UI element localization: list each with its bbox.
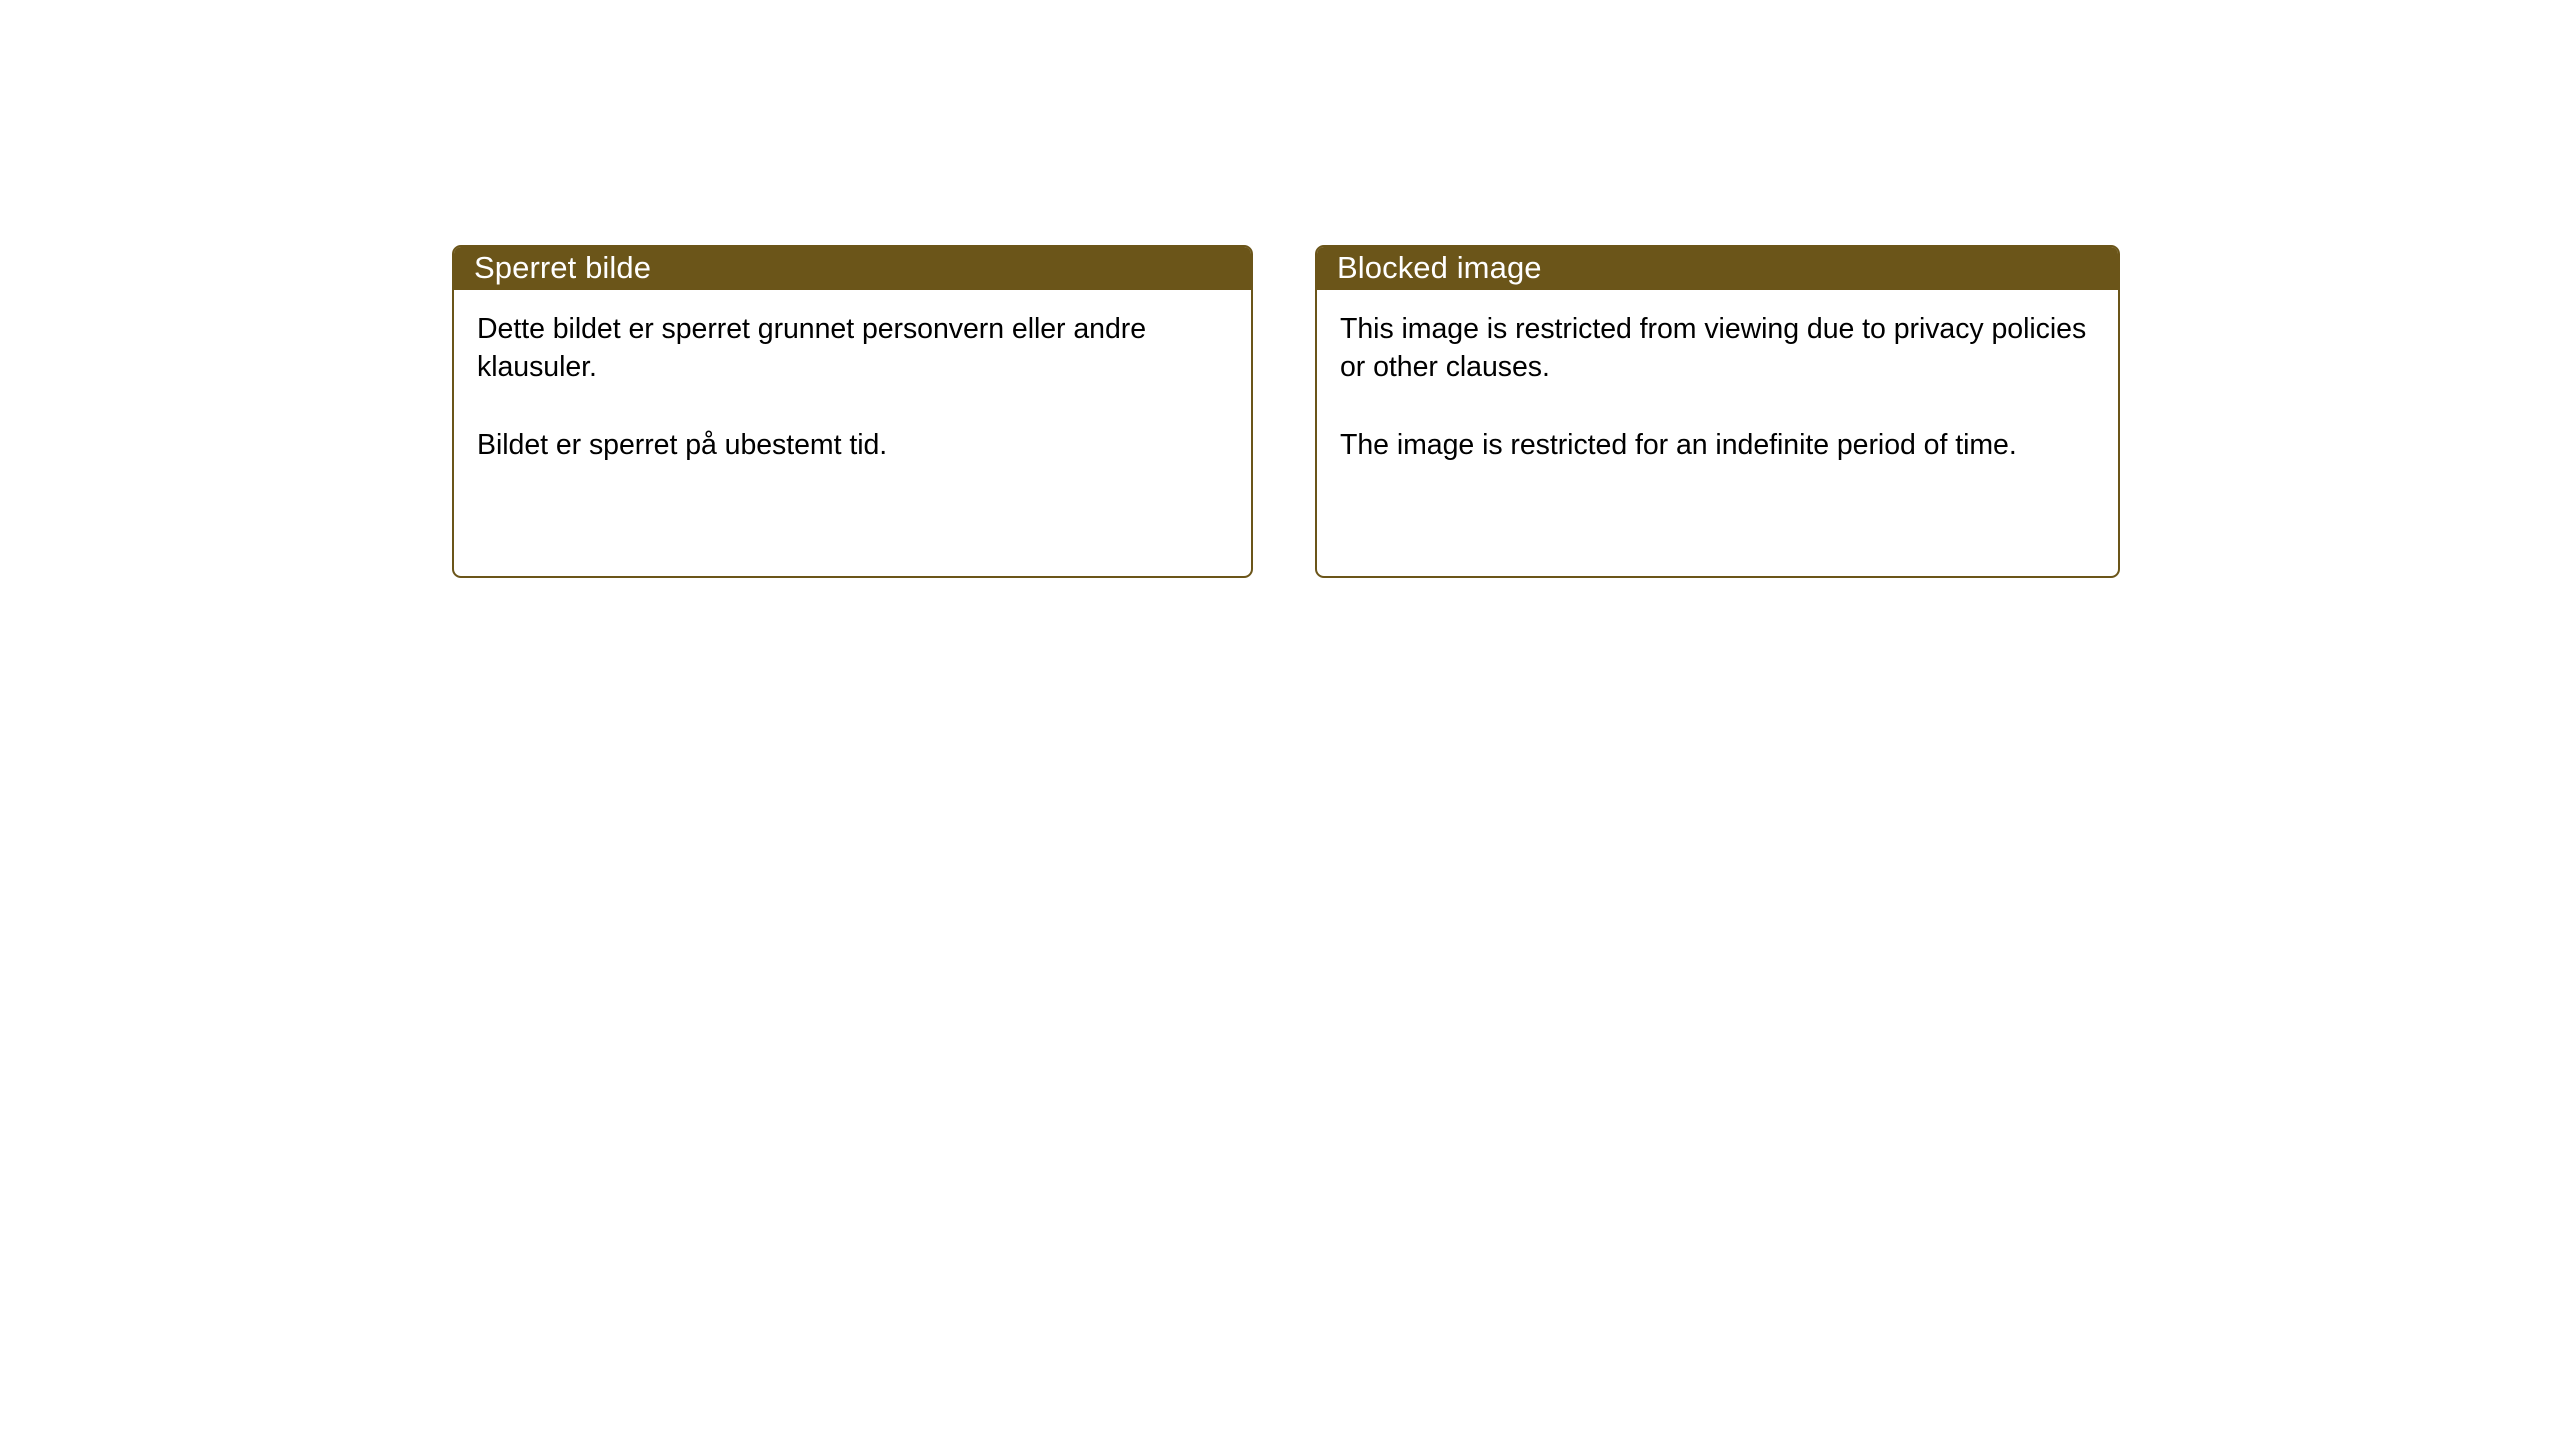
card-body-norwegian: Dette bildet er sperret grunnet personve…: [454, 290, 1251, 576]
card-paragraph-privacy-reason-norwegian: Dette bildet er sperret grunnet personve…: [477, 310, 1227, 386]
card-title-norwegian: Sperret bilde: [474, 252, 651, 283]
card-paragraph-privacy-reason-english: This image is restricted from viewing du…: [1340, 310, 2094, 386]
card-paragraph-duration-english: The image is restricted for an indefinit…: [1340, 426, 2094, 464]
card-title-english: Blocked image: [1337, 252, 1542, 283]
blocked-image-card-norwegian: Sperret bilde Dette bildet er sperret gr…: [452, 245, 1253, 578]
blocked-image-card-english: Blocked image This image is restricted f…: [1315, 245, 2120, 578]
blocked-image-notice-group: Sperret bilde Dette bildet er sperret gr…: [452, 245, 2120, 580]
card-paragraph-duration-norwegian: Bildet er sperret på ubestemt tid.: [477, 426, 1227, 464]
card-header-bar-norwegian: Sperret bilde: [452, 245, 1253, 290]
card-body-english: This image is restricted from viewing du…: [1317, 290, 2118, 576]
card-header-bar-english: Blocked image: [1315, 245, 2120, 290]
